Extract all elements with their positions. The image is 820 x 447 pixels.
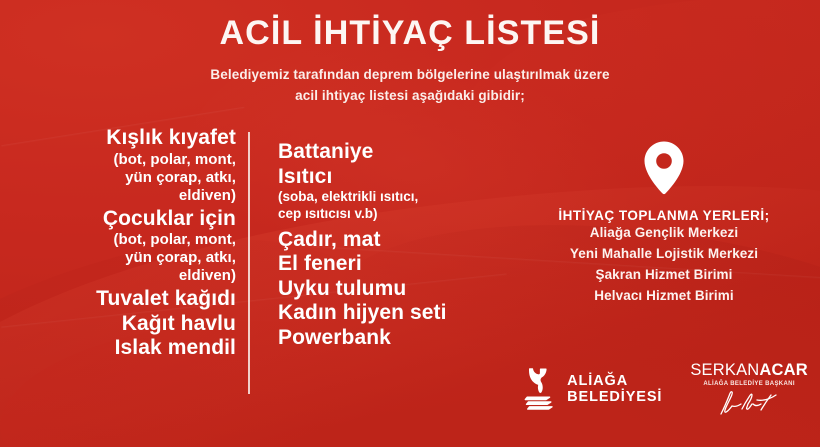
municipality-logo: ALİAĞA BELEDİYESİ bbox=[524, 367, 662, 411]
list-item: Yeni Mahalle Lojistik Merkezi bbox=[528, 244, 800, 265]
list-item: Tuvalet kağıdı bbox=[20, 287, 236, 312]
municipality-logo-text: ALİAĞA BELEDİYESİ bbox=[567, 373, 662, 405]
list-item: El feneri bbox=[278, 252, 528, 277]
subtitle-line-2: acil ihtiyaç listesi aşağıdaki gibidir; bbox=[295, 88, 525, 103]
list-item-detail: yün çorap, atkı, bbox=[20, 249, 236, 267]
municipality-name-line-1: ALİAĞA bbox=[567, 373, 662, 389]
mayor-role: ALİAĞA BELEDİYE BAŞKANI bbox=[690, 381, 808, 387]
list-item-detail: (bot, polar, mont, bbox=[20, 231, 236, 249]
mayor-name: SERKANACAR bbox=[690, 362, 808, 379]
list-item: Kağıt havlu bbox=[20, 312, 236, 337]
list-item-detail: (bot, polar, mont, bbox=[20, 151, 236, 169]
list-item: Uyku tulumu bbox=[278, 277, 528, 302]
collection-points-panel: İHTİYAÇ TOPLANMA YERLERİ; Aliağa Gençlik… bbox=[528, 140, 800, 307]
list-item: Kışlık kıyafet bbox=[20, 126, 236, 151]
mayor-signature-block: SERKANACAR ALİAĞA BELEDİYE BAŞKANI bbox=[690, 360, 808, 418]
list-item: Kadın hijyen seti bbox=[278, 301, 528, 326]
poster-header: ACİL İHTİYAÇ LİSTESİ Belediyemiz tarafın… bbox=[0, 16, 820, 107]
list-item: Çadır, mat bbox=[278, 228, 528, 253]
list-item: Islak mendil bbox=[20, 336, 236, 361]
page-title: ACİL İHTİYAÇ LİSTESİ bbox=[0, 16, 820, 52]
mayor-last-name: ACAR bbox=[759, 361, 807, 379]
list-item: Isıtıcı bbox=[278, 165, 528, 190]
list-item: Helvacı Hizmet Birimi bbox=[528, 286, 800, 307]
poster-subtitle: Belediyemiz tarafından deprem bölgelerin… bbox=[0, 65, 820, 107]
list-item-detail: eldiven) bbox=[20, 267, 236, 285]
column-divider bbox=[248, 132, 250, 394]
mayor-first-name: SERKAN bbox=[690, 361, 759, 379]
municipality-name-line-2: BELEDİYESİ bbox=[567, 389, 662, 405]
list-item: Battaniye bbox=[278, 140, 528, 165]
collection-points-title: İHTİYAÇ TOPLANMA YERLERİ; bbox=[528, 208, 800, 223]
handwritten-signature-icon bbox=[690, 388, 808, 418]
footer-logo-strip: ALİAĞA BELEDİYESİ SERKANACAR ALİAĞA BELE… bbox=[528, 352, 804, 426]
list-item: Şakran Hizmet Birimi bbox=[528, 265, 800, 286]
list-item-detail: (soba, elektrikli ısıtıcı, bbox=[278, 189, 528, 206]
list-item-detail: eldiven) bbox=[20, 187, 236, 205]
list-item: Çocuklar için bbox=[20, 207, 236, 232]
list-item: Powerbank bbox=[278, 326, 528, 351]
subtitle-line-1: Belediyemiz tarafından deprem bölgelerin… bbox=[210, 67, 609, 82]
list-item: Aliağa Gençlik Merkezi bbox=[528, 223, 800, 244]
emergency-needs-poster: ACİL İHTİYAÇ LİSTESİ Belediyemiz tarafın… bbox=[0, 0, 820, 447]
aliaga-municipality-logo-icon bbox=[524, 367, 558, 411]
needs-list-left: Kışlık kıyafet (bot, polar, mont, yün ço… bbox=[20, 126, 236, 361]
list-item-detail: yün çorap, atkı, bbox=[20, 169, 236, 187]
list-item-detail: cep ısıtıcısı v.b) bbox=[278, 206, 528, 223]
needs-list-middle: Battaniye Isıtıcı (soba, elektrikli ısıt… bbox=[278, 140, 528, 350]
map-pin-icon bbox=[528, 140, 800, 196]
